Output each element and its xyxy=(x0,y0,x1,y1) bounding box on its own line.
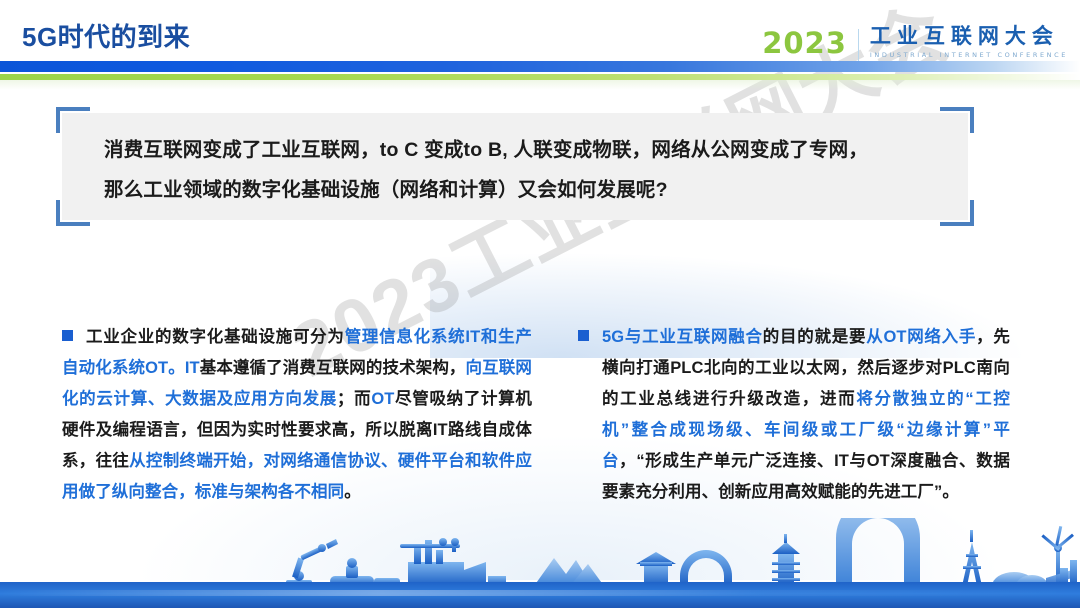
question-text: 消费互联网变成了工业互联网，to C 变成to B, 人联变成物联，网络从公网变… xyxy=(104,130,934,210)
page-title: 5G时代的到来 xyxy=(22,17,190,54)
question-line-2: 那么工业领域的数字化基础设施（网络和计算）又会如何发展呢? xyxy=(104,170,934,210)
stadium-icon xyxy=(992,572,1048,586)
question-line-1: 消费互联网变成了工业互联网，to C 变成to B, 人联变成物联，网络从公网变… xyxy=(104,130,934,170)
wind-turbine-icon xyxy=(1041,526,1074,586)
pagoda-icon xyxy=(772,534,800,586)
mountain-icon xyxy=(534,558,604,586)
text-segment-5: OT xyxy=(371,390,394,408)
crane-icon xyxy=(400,538,460,552)
gate-of-the-orient-icon xyxy=(836,518,920,586)
text-segment-8: 。 xyxy=(344,483,361,501)
right-paragraph: 5G与工业互联网融合的目的就是要从OT网络入手，先横向打通PLC北向的工业以太网… xyxy=(602,322,1010,508)
bullet-item-right: 5G与工业互联网融合的目的就是要从OT网络入手，先横向打通PLC北向的工业以太网… xyxy=(578,322,1010,508)
pipeline-icon xyxy=(330,558,400,586)
skyline-svg xyxy=(0,518,1080,608)
text-segment-7: 从控制终端开始，对网络通信协议、硬件平台和软件应用做了纵向整合，标准与架构各不相… xyxy=(62,452,532,501)
corner-bracket-top-right xyxy=(940,107,974,133)
water-gloss xyxy=(0,590,1080,596)
left-text-column: 工业企业的数字化基础设施可分为管理信息化系统IT和生产自动化系统OT。IT基本遵… xyxy=(62,322,532,508)
factory-icon xyxy=(408,540,506,586)
robot-arm-icon xyxy=(286,539,338,586)
text-segment-0: 工业企业的数字化基础设施可分为 xyxy=(86,328,345,346)
corner-bracket-bottom-right xyxy=(940,200,974,226)
header-bar-fade xyxy=(0,80,1080,90)
pavilion-icon xyxy=(636,552,676,586)
bottom-skyline-illustration xyxy=(0,518,1080,608)
arch-bridge-icon xyxy=(676,550,736,587)
square-bullet-icon xyxy=(578,330,589,341)
logo-year: 2023 xyxy=(762,29,847,58)
logo-name-cn: 工业互联网大会 xyxy=(870,26,1068,49)
eiffel-tower-icon xyxy=(962,530,982,586)
text-segment-1: 的目的就是要 xyxy=(763,328,866,346)
text-segment-4: ；而 xyxy=(337,390,371,408)
text-segment-5: ，“形成生产单元广泛连接、IT与OT深度融合、数据要素充分利用、创新应用高效赋能… xyxy=(602,452,1010,501)
text-segment-0: 5G与工业互联网融合 xyxy=(602,328,763,346)
logo-name-en: INDUSTRIAL INTERNET CONFERENCE xyxy=(870,51,1068,59)
solar-panel-icon xyxy=(1046,570,1072,586)
left-paragraph: 工业企业的数字化基础设施可分为管理信息化系统IT和生产自动化系统OT。IT基本遵… xyxy=(62,322,532,508)
water-band xyxy=(0,582,1080,608)
right-text-column: 5G与工业互联网融合的目的就是要从OT网络入手，先横向打通PLC北向的工业以太网… xyxy=(578,322,1010,508)
corner-bracket-top-left xyxy=(56,107,90,133)
skyline-icon xyxy=(1060,560,1077,586)
presentation-slide: 2023工业互联网大会 5G时代的到来 2023 中国·苏州 8月11日-13日… xyxy=(0,0,1080,608)
slide-header: 5G时代的到来 2023 中国·苏州 8月11日-13日 工业互联网大会 IND… xyxy=(0,0,1080,88)
question-callout-box: 消费互联网变成了工业互联网，to C 变成to B, 人联变成物联，网络从公网变… xyxy=(62,113,968,220)
header-blue-bar xyxy=(0,61,1080,72)
bullet-item-left: 工业企业的数字化基础设施可分为管理信息化系统IT和生产自动化系统OT。IT基本遵… xyxy=(62,322,532,508)
text-segment-2: 从OT网络入手 xyxy=(866,328,976,346)
corner-bracket-bottom-left xyxy=(56,200,90,226)
text-segment-2: 基本遵循了消费互联网的技术架构， xyxy=(200,359,466,377)
